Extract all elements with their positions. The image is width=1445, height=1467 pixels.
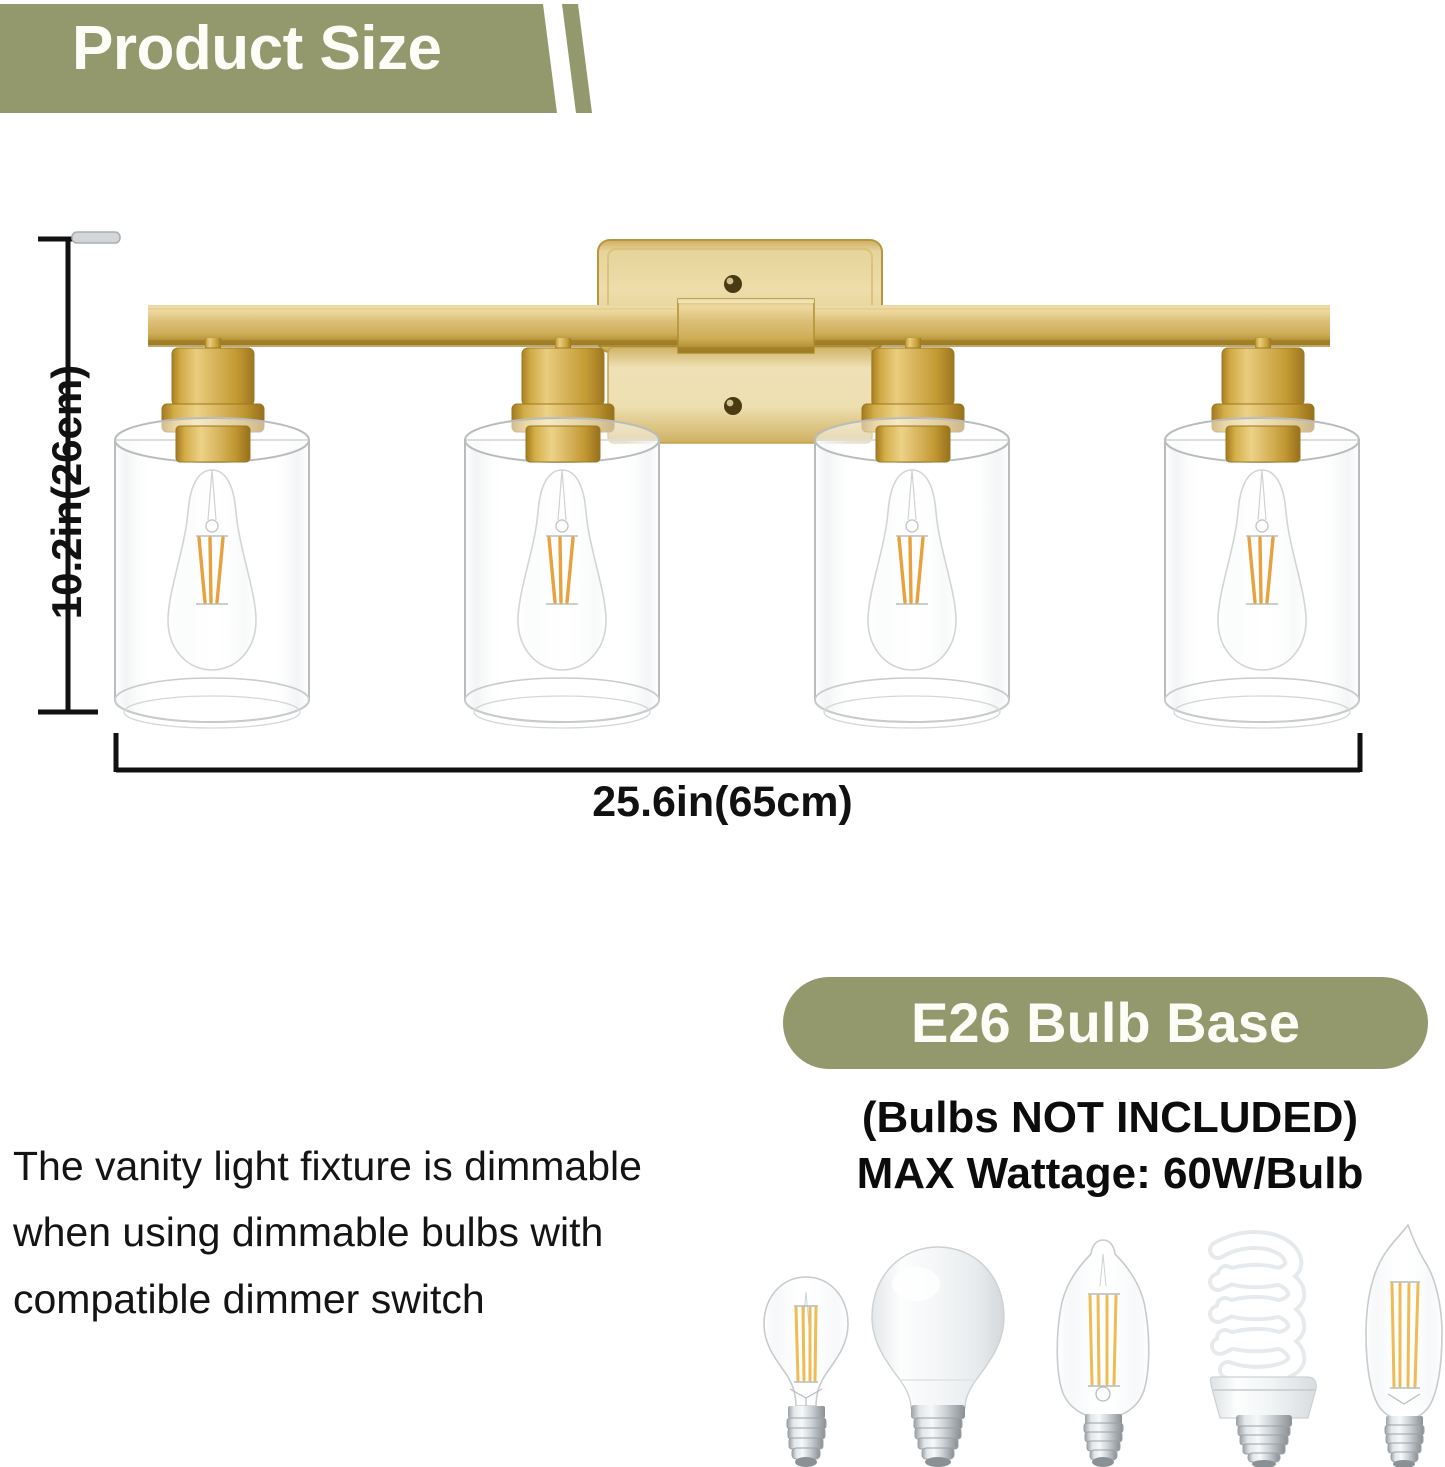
glass-shade-3 [815,418,1009,728]
max-wattage-text: MAX Wattage: 60W/Bulb [780,1146,1440,1202]
dimmable-description: The vanity light fixture is dimmable whe… [13,1133,743,1332]
bulb-frosted-led-a19 [872,1247,1004,1467]
lamp-head-4 [1165,338,1359,728]
e26-bulb-base-banner: E26 Bulb Base [783,977,1428,1069]
bulb-clear-filament-a-shape [764,1277,848,1467]
dimmable-line-2: when using dimmable bulbs with [13,1199,743,1265]
glass-shade-1 [115,418,309,728]
e26-banner-title: E26 Bulb Base [911,995,1300,1051]
fixture-crossbar [148,299,1330,353]
height-dimension-label: 10.2in(26cm) [43,342,91,642]
bulb-clear-flame-candelabra [1366,1225,1442,1467]
lamp-head-1 [115,338,309,728]
bulbs-not-included-text: (Bulbs NOT INCLUDED) [780,1090,1440,1146]
width-dimension-label: 25.6in(65cm) [0,778,1445,827]
glass-shade-4 [1165,418,1359,728]
bulb-clear-edison-st64 [1057,1240,1149,1467]
glass-shade-2 [465,418,659,728]
bulb-cfl-spiral [1210,1240,1316,1467]
dimmable-line-3: compatible dimmer switch [13,1266,743,1332]
e26-details: (Bulbs NOT INCLUDED) MAX Wattage: 60W/Bu… [780,1090,1440,1203]
compatible-bulb-types [748,1222,1445,1467]
product-infographic: Product Size [0,0,1445,1467]
dimmable-line-1: The vanity light fixture is dimmable [13,1133,743,1199]
horizontal-dimension-line [116,733,1360,772]
vanity-light-fixture [0,0,1445,820]
